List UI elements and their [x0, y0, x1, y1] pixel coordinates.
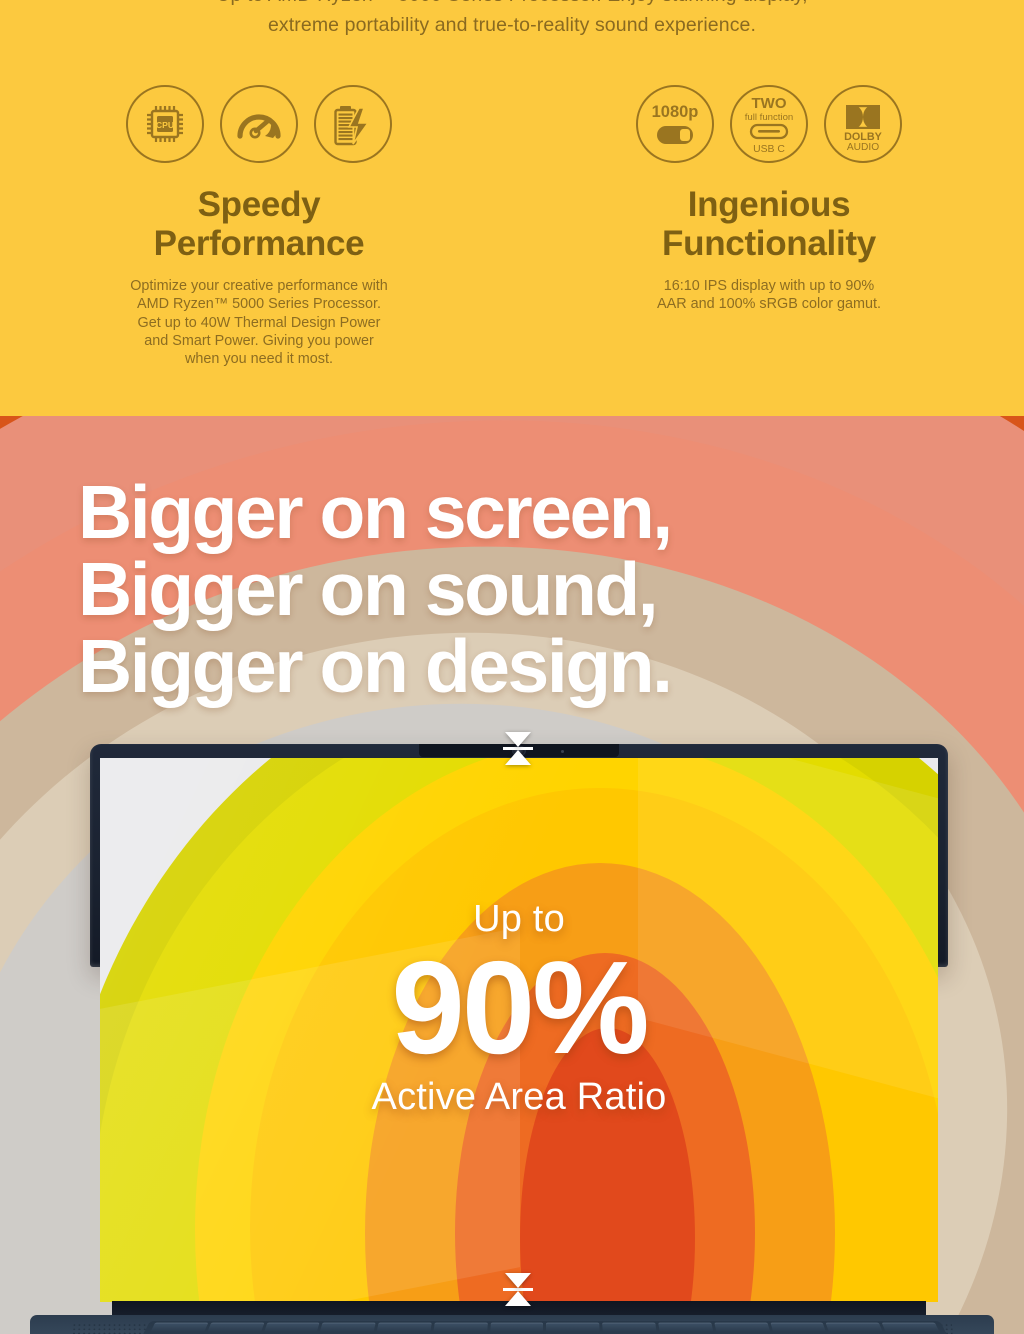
keyboard-key	[490, 1323, 544, 1332]
intro-line-2: extreme portability and true-to-reality …	[0, 10, 1024, 40]
keyboard-key	[658, 1323, 713, 1332]
body-line: Optimize your creative performance with	[130, 277, 388, 295]
body-line: Get up to 40W Thermal Design Power	[130, 314, 388, 332]
intro-line-1: Up to AMD Ryzen™ 5000 Series Processor. …	[0, 0, 1024, 10]
feature-title-line-2: Performance	[154, 224, 365, 263]
audio-label: AUDIO	[847, 142, 879, 153]
overlay-percent-value: 90%	[100, 942, 938, 1074]
triangle-up-icon	[505, 1291, 531, 1306]
keyboard-key	[882, 1323, 940, 1332]
usb-c-label-bottom: USB C	[753, 144, 785, 155]
laptop-product-image: Up to 90% Active Area Ratio	[0, 416, 1024, 1334]
feature-title-speedy-performance: Speedy Performance	[154, 185, 365, 263]
keyboard-key	[602, 1323, 656, 1332]
laptop-screen: Up to 90% Active Area Ratio	[100, 758, 938, 1302]
keyboard-key	[826, 1323, 883, 1332]
feature-column-speedy-performance: CPU	[0, 85, 512, 368]
bezel-thickness-marker-bottom	[503, 1273, 533, 1306]
features-panel: Up to AMD Ryzen™ 5000 Series Processor. …	[0, 0, 1024, 416]
keyboard-key	[433, 1323, 487, 1332]
icon-row-functionality: 1080p TWO full function USB C	[636, 85, 902, 163]
hero-section: Bigger on screen, Bigger on sound, Bigge…	[0, 416, 1024, 1334]
feature-title-ingenious-functionality: Ingenious Functionality	[662, 185, 876, 263]
battery-bolt-icon	[314, 85, 392, 163]
body-line: when you need it most.	[130, 350, 388, 368]
feature-title-line-1: Speedy	[154, 185, 365, 224]
usb-c-icon: TWO full function USB C	[730, 85, 808, 163]
intro-paragraph: Up to AMD Ryzen™ 5000 Series Processor. …	[0, 0, 1024, 40]
feature-title-line-1: Ingenious	[662, 185, 876, 224]
keyboard-row	[144, 1321, 947, 1334]
laptop-keyboard	[122, 1321, 968, 1334]
webcam-1080p-label: 1080p	[652, 103, 699, 121]
webcam-indicator-led	[561, 750, 564, 753]
body-line: AAR and 100% sRGB color gamut.	[657, 295, 881, 313]
body-line: and Smart Power. Giving you power	[130, 332, 388, 350]
cpu-icon-label: CPU	[156, 120, 174, 130]
keyboard-key	[320, 1323, 376, 1332]
keyboard-key	[150, 1323, 208, 1332]
cpu-icon: CPU	[126, 85, 204, 163]
usb-c-label-sub: full function	[745, 112, 794, 123]
keyboard-key	[546, 1323, 600, 1332]
feature-column-ingenious-functionality: 1080p TWO full function USB C	[512, 85, 1024, 368]
feature-body-ingenious-functionality: 16:10 IPS display with up to 90% AAR and…	[657, 277, 881, 314]
speaker-grille-left	[70, 1323, 153, 1334]
dolby-audio-icon: DOLBY AUDIO	[824, 85, 902, 163]
triangle-up-icon	[505, 750, 531, 765]
screen-overlay-text: Up to 90% Active Area Ratio	[100, 898, 938, 1118]
product-feature-page: Up to AMD Ryzen™ 5000 Series Processor. …	[0, 0, 1024, 1334]
keyboard-key	[714, 1323, 770, 1332]
speedometer-icon	[220, 85, 298, 163]
icon-row-performance: CPU	[126, 85, 392, 163]
body-line: AMD Ryzen™ 5000 Series Processor.	[130, 295, 388, 313]
feature-title-line-2: Functionality	[662, 224, 876, 263]
triangle-down-icon	[505, 1273, 531, 1288]
keyboard-key	[770, 1323, 826, 1332]
keyboard-key	[207, 1323, 264, 1332]
keyboard-key	[264, 1323, 320, 1332]
feature-body-speedy-performance: Optimize your creative performance with …	[130, 277, 388, 368]
laptop-base	[30, 1315, 994, 1334]
body-line: 16:10 IPS display with up to 90%	[657, 277, 881, 295]
bezel-thickness-marker-top	[503, 732, 533, 765]
keyboard-key	[377, 1323, 432, 1332]
usb-c-label-top: TWO	[752, 95, 787, 112]
overlay-caption: Active Area Ratio	[100, 1076, 938, 1118]
features-columns: CPU	[0, 85, 1024, 368]
triangle-down-icon	[505, 732, 531, 747]
webcam-1080p-icon: 1080p	[636, 85, 714, 163]
